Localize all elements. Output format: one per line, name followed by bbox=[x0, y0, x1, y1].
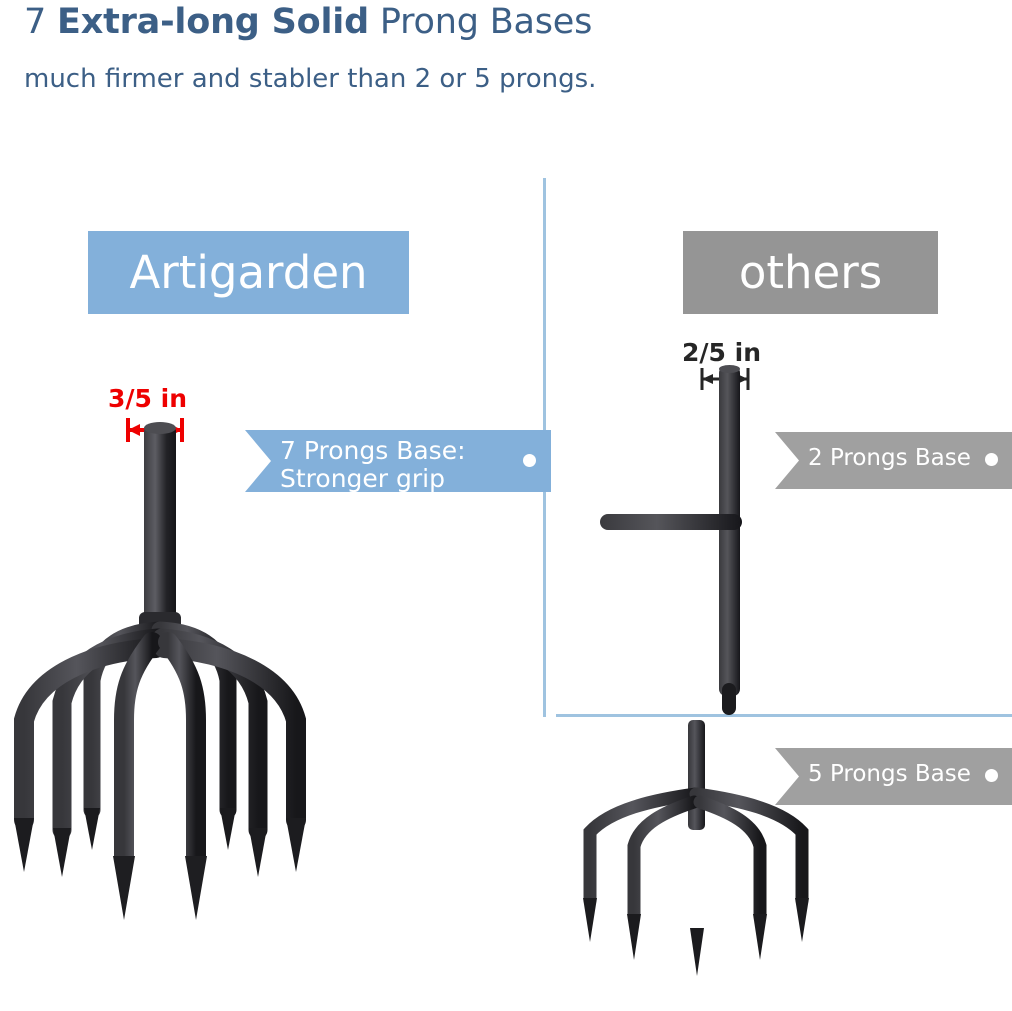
page-subtitle: much firmer and stabler than 2 or 5 pron… bbox=[24, 64, 596, 94]
page-title: 7 Extra-long Solid Prong Bases bbox=[24, 2, 592, 42]
product-image-two-prong bbox=[560, 330, 780, 730]
callout-bullet-dot bbox=[985, 453, 998, 466]
header: 7 Extra-long Solid Prong Bases much firm… bbox=[0, 0, 1012, 118]
page-title-emphasis: Extra-long Solid bbox=[57, 2, 369, 42]
callout-two-prong: 2 Prongs Base bbox=[775, 432, 1012, 489]
callout-bullet-dot bbox=[523, 454, 536, 467]
product-image-seven-prong bbox=[0, 380, 360, 980]
brand-label-others: others bbox=[683, 231, 938, 314]
brand-label-others-text: others bbox=[739, 246, 882, 299]
brand-label-ours: Artigarden bbox=[88, 231, 409, 314]
brand-label-ours-text: Artigarden bbox=[129, 246, 367, 299]
product-image-five-prong bbox=[560, 720, 840, 1010]
page-title-part1: 7 bbox=[24, 2, 57, 42]
callout-bullet-dot bbox=[985, 769, 998, 782]
page-title-part2: Prong Bases bbox=[369, 2, 592, 42]
callout-two-prong-text: 2 Prongs Base bbox=[808, 446, 971, 472]
